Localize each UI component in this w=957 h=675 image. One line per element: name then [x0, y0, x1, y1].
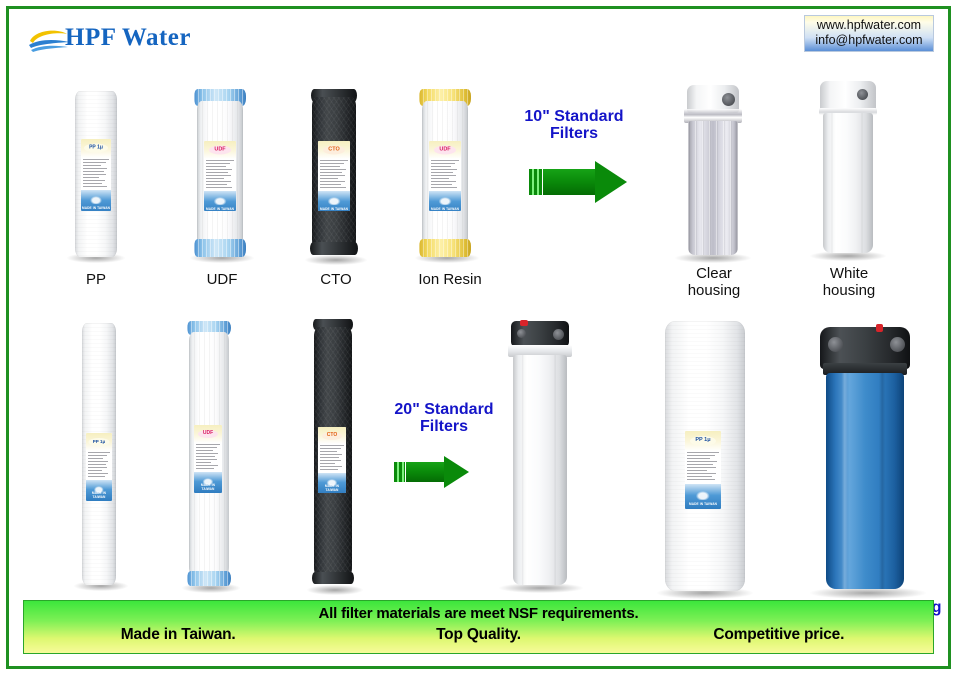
sticker-text-block: [318, 159, 350, 191]
cap-bottom-blue: [194, 239, 246, 257]
cap-bottom-dark: [310, 242, 358, 255]
footer-nsf-line: All filter materials are meet NSF requir…: [24, 605, 933, 622]
sticker-badge: UDF: [198, 430, 218, 438]
housing-body-white: [823, 113, 873, 253]
page-frame: HPF Water www.hpfwater.com info@hpfwater…: [6, 6, 951, 669]
sticker-badge: CTO: [323, 146, 345, 155]
contact-box: www.hpfwater.com info@hpfwater.com: [804, 15, 934, 52]
caption-white-housing: White housing: [799, 265, 899, 299]
label-sticker-cto: CTO MADE IN TAIWAN: [318, 141, 350, 211]
sticker-top: UDF: [194, 425, 222, 443]
caption-udf-10: UDF: [172, 271, 272, 288]
sticker-logo-icon: [214, 197, 227, 205]
label-sticker-pp-20: PP 1μ MADE IN TAIWAN: [86, 433, 112, 501]
product-udf-20[interactable]: UDF MADE IN TAIWAN: [187, 321, 235, 593]
sticker-logo-icon: [439, 197, 452, 205]
arrow-head: [444, 456, 469, 488]
product-white-housing-20[interactable]: [501, 317, 581, 597]
footer-benefit-competitive-price: Competitive price.: [629, 626, 929, 644]
cap-bottom-blue: [187, 571, 231, 586]
caption-ion-resin-10: Ion Resin: [395, 271, 505, 288]
pressure-release-button[interactable]: [876, 324, 883, 332]
housing-port-right-icon: [890, 337, 905, 352]
product-cto-10[interactable]: CTO MADE IN TAIWAN: [309, 87, 363, 265]
sticker-text-block: [685, 451, 721, 484]
caption-cto-10: CTO: [286, 271, 386, 288]
sticker-text-block: [86, 451, 112, 480]
housing-port-icon: [722, 93, 735, 106]
sticker-top: PP 1μ: [86, 433, 112, 451]
sticker-badge: CTO: [322, 432, 342, 440]
cap-bottom-yellow: [419, 239, 471, 257]
arrow-shaft: [543, 169, 597, 195]
sticker-bottom: MADE IN TAIWAN: [318, 473, 346, 493]
sticker-bottom: MADE IN TAIWAN: [86, 480, 112, 501]
caption-pp-10: PP: [46, 271, 146, 288]
sticker-bottom: MADE IN TAIWAN: [429, 191, 461, 211]
arrow-10-inch: [529, 161, 629, 203]
sticker-text-block: [194, 443, 222, 472]
housing-body-white-20: [513, 355, 567, 585]
sticker-bottom: MADE IN TAIWAN: [194, 472, 222, 493]
pressure-release-button[interactable]: [520, 320, 528, 326]
footer-benefits-row: Made in Taiwan. Top Quality. Competitive…: [24, 626, 933, 644]
arrow-tail: [394, 462, 405, 482]
sticker-bottom: MADE IN TAIWAN: [81, 190, 111, 211]
sticker-text-block: [318, 444, 346, 473]
product-udf-10[interactable]: UDF MADE IN TAIWAN: [194, 87, 250, 265]
label-sticker-cto-20: CTO MADE IN TAIWAN: [318, 427, 346, 493]
housing-port-icon: [553, 329, 564, 340]
product-big-flow-filter[interactable]: PP 1μ MADE IN TAIWAN: [661, 321, 751, 599]
housing-port-icon-2: [517, 329, 526, 338]
sticker-text-block: [81, 158, 111, 190]
arrow-tail: [529, 169, 542, 195]
product-cto-20[interactable]: CTO MADE IN TAIWAN: [312, 319, 358, 595]
sticker-badge: PP 1μ: [89, 438, 110, 446]
arrow-20-inch: [394, 455, 478, 489]
arrow-shaft: [406, 462, 446, 482]
housing-port-left-icon: [828, 337, 843, 352]
label-sticker-udf: UDF MADE IN TAIWAN: [204, 141, 236, 211]
footer-benefit-made-in-taiwan: Made in Taiwan.: [28, 626, 328, 644]
product-ion-resin-10[interactable]: UDF MADE IN TAIWAN: [419, 87, 475, 265]
sticker-top: CTO: [318, 141, 350, 159]
contact-email[interactable]: info@hpfwater.com: [809, 33, 929, 48]
group-label-20-inch: 20" Standard Filters: [364, 401, 524, 435]
brand-name: HPF Water: [65, 24, 191, 52]
sticker-text-block: [204, 159, 236, 191]
label-sticker-big-flow: PP 1μ MADE IN TAIWAN: [685, 431, 721, 509]
sticker-logo-icon: [328, 197, 341, 205]
housing-port-icon: [857, 89, 868, 100]
sticker-bottom: MADE IN TAIWAN: [318, 191, 350, 211]
sticker-bottom: MADE IN TAIWAN: [204, 191, 236, 211]
sticker-top: PP 1μ: [81, 139, 111, 158]
sticker-top: UDF: [204, 141, 236, 159]
sticker-logo-icon: [90, 196, 102, 204]
contact-website[interactable]: www.hpfwater.com: [809, 18, 929, 33]
housing-body-blue: [826, 373, 904, 589]
footer-banner: All filter materials are meet NSF requir…: [23, 600, 934, 654]
product-pp-10[interactable]: PP 1μ MADE IN TAIWAN: [71, 91, 121, 261]
shadow: [307, 585, 363, 595]
shadow: [305, 255, 367, 265]
footer-benefit-top-quality: Top Quality.: [328, 626, 628, 644]
catalog-page: HPF Water www.hpfwater.com info@hpfwater…: [0, 0, 957, 675]
product-pp-20[interactable]: PP 1μ MADE IN TAIWAN: [79, 323, 123, 591]
sticker-badge: UDF: [434, 146, 456, 155]
label-sticker-pp: PP 1μ MADE IN TAIWAN: [81, 139, 111, 211]
sticker-logo-icon: [696, 491, 710, 499]
label-sticker-udf-20: UDF MADE IN TAIWAN: [194, 425, 222, 493]
sticker-top: CTO: [318, 427, 346, 444]
product-big-flow-housing[interactable]: [814, 319, 924, 599]
housing-body-clear: [688, 121, 738, 255]
label-sticker-ion-resin: UDF MADE IN TAIWAN: [429, 141, 461, 211]
caption-clear-housing: Clear housing: [664, 265, 764, 299]
sticker-top: PP 1μ: [685, 431, 721, 451]
product-white-housing-10[interactable]: [812, 79, 884, 265]
sticker-badge: PP 1μ: [690, 436, 716, 446]
brand-logo: HPF Water: [27, 23, 227, 59]
sticker-top: UDF: [429, 141, 461, 159]
group-label-10-inch: 10" Standard Filters: [499, 108, 649, 142]
cap-bottom-dark: [312, 572, 354, 584]
sticker-bottom: MADE IN TAIWAN: [685, 484, 721, 509]
sticker-text-block: [429, 159, 461, 191]
sticker-badge: UDF: [209, 146, 231, 155]
sticker-badge: PP 1μ: [84, 144, 108, 153]
product-clear-housing-10[interactable]: [677, 83, 749, 265]
arrow-head: [595, 161, 627, 203]
